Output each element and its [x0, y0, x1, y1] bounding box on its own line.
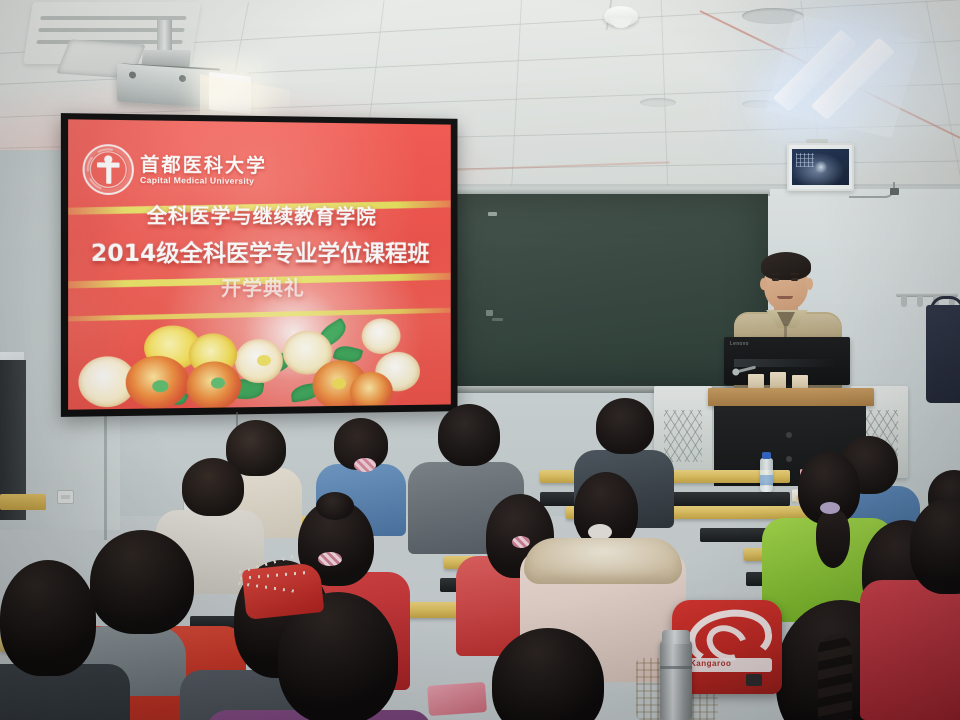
hair-accessory	[354, 458, 376, 472]
university-logo: 首都医科大学 Capital Medical University	[83, 144, 261, 194]
university-seal-icon	[83, 144, 134, 195]
hair-accessory	[318, 552, 342, 566]
podium-top	[708, 388, 874, 406]
monitor-brand-label: Lenovo	[730, 341, 749, 347]
slide-line-1: 全科医学与继续教育学院	[68, 199, 451, 230]
tote-bag[interactable]	[926, 305, 960, 403]
water-bottle[interactable]	[760, 458, 773, 492]
person-hair	[0, 560, 96, 676]
left-desk-edge	[0, 494, 46, 510]
ceiling-diffuser	[640, 98, 676, 107]
university-name-cn: 首都医科大学	[140, 150, 267, 178]
lecture-hall-photo: 首都医科大学 Capital Medical University 全科医学与继…	[0, 0, 960, 720]
hair-accessory	[512, 536, 530, 548]
person-hair	[438, 404, 500, 466]
presentation-slide: 首都医科大学 Capital Medical University 全科医学与继…	[68, 119, 451, 409]
wall-lcd-plug	[890, 188, 899, 195]
hair-accessory	[820, 502, 840, 514]
person-torso	[860, 580, 960, 720]
steel-thermos[interactable]	[660, 640, 692, 720]
fur-hood-collar	[524, 538, 682, 584]
coat-hook[interactable]	[901, 296, 907, 307]
smoke-detector-icon	[604, 6, 638, 26]
ceiling-light-fixture	[775, 28, 915, 126]
slide-line-3: 开学典礼	[68, 272, 451, 302]
projection-screen-frame: 首都医科大学 Capital Medical University 全科医学与继…	[61, 113, 458, 417]
person-hair	[90, 530, 194, 634]
presenter-hair	[761, 252, 811, 280]
wall-outlet[interactable]	[57, 490, 74, 504]
ponytail	[816, 510, 850, 568]
coat-hook[interactable]	[917, 296, 923, 307]
hair-bun	[316, 492, 354, 520]
peony-flower-decoration	[68, 302, 451, 409]
person-hair	[182, 458, 244, 516]
wall-lcd-cable	[849, 182, 895, 198]
slide-line-2: 2014级全科医学专业学位课程班	[68, 233, 451, 268]
person-hair	[596, 398, 654, 454]
hair-braid	[818, 634, 852, 720]
backpack-brand-label: Kangaroo	[690, 659, 731, 668]
pink-item	[427, 682, 487, 716]
projector-lens	[209, 72, 251, 114]
university-name-en: Capital Medical University	[140, 175, 254, 186]
wall-lcd-display[interactable]	[787, 143, 854, 191]
